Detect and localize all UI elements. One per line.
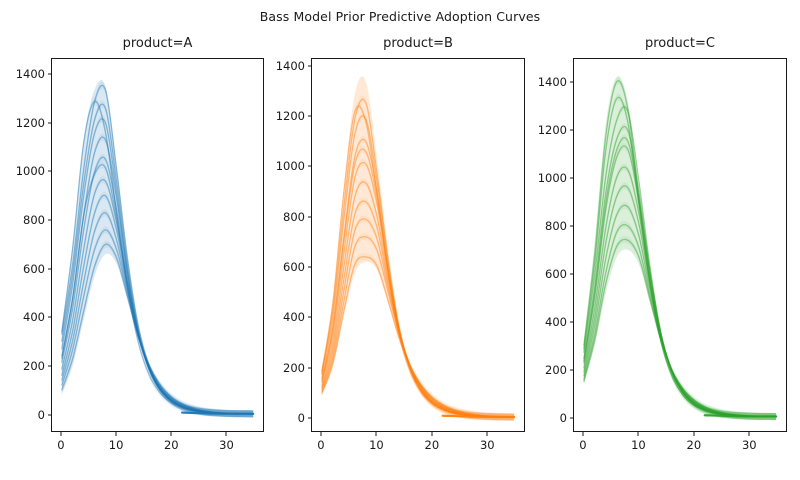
axes-frame-product-c — [573, 58, 787, 432]
x-tick-label: 0 — [317, 438, 324, 452]
adoption-curve-tail — [182, 413, 253, 414]
y-tick-mark — [48, 317, 52, 318]
y-tick-label: 0 — [560, 411, 567, 425]
y-tick-mark — [308, 367, 312, 368]
subplot-title-product-c: product=C — [573, 36, 787, 51]
plot-area-product-c — [574, 59, 786, 431]
y-tick-mark — [570, 321, 574, 322]
y-tick-label: 600 — [23, 262, 45, 276]
y-tick-mark — [570, 417, 574, 418]
axes-frame-product-a — [51, 58, 264, 432]
y-tick-label: 600 — [283, 260, 305, 274]
y-tick-label: 400 — [545, 315, 567, 329]
axes-frame-product-b — [311, 58, 525, 432]
y-tick-label: 1400 — [276, 59, 305, 73]
x-tick-mark — [171, 432, 172, 436]
x-tick-mark — [638, 432, 639, 436]
x-tick-mark — [376, 432, 377, 436]
x-tick-label: 10 — [369, 438, 384, 452]
y-tick-label: 400 — [283, 310, 305, 324]
y-tick-mark — [48, 171, 52, 172]
x-tick-mark — [226, 432, 227, 436]
y-tick-label: 1200 — [538, 123, 567, 137]
y-tick-mark — [308, 65, 312, 66]
y-tick-mark — [570, 225, 574, 226]
y-tick-label: 800 — [283, 210, 305, 224]
x-tick-label: 30 — [219, 438, 234, 452]
x-tick-label: 20 — [687, 438, 702, 452]
subplot-product-c: product=C 020040060080010001200140001020… — [573, 58, 787, 432]
y-tick-mark — [48, 73, 52, 74]
adoption-curve-tail — [705, 415, 776, 416]
x-tick-mark — [320, 432, 321, 436]
y-tick-label: 0 — [38, 408, 45, 422]
x-tick-label: 10 — [631, 438, 646, 452]
x-tick-mark — [582, 432, 583, 436]
subplot-product-b: product=B 020040060080010001200140001020… — [311, 58, 525, 432]
y-tick-label: 400 — [23, 310, 45, 324]
x-tick-label: 20 — [425, 438, 440, 452]
y-tick-label: 1200 — [16, 116, 45, 130]
y-tick-label: 1400 — [538, 75, 567, 89]
y-tick-mark — [570, 273, 574, 274]
y-tick-label: 200 — [283, 361, 305, 375]
y-tick-mark — [570, 81, 574, 82]
x-tick-mark — [60, 432, 61, 436]
y-tick-mark — [308, 166, 312, 167]
y-tick-label: 1000 — [538, 171, 567, 185]
x-tick-mark — [749, 432, 750, 436]
x-tick-label: 0 — [57, 438, 64, 452]
x-tick-mark — [487, 432, 488, 436]
y-tick-mark — [48, 220, 52, 221]
y-tick-mark — [48, 122, 52, 123]
plot-area-product-a — [52, 59, 263, 431]
y-tick-label: 1400 — [16, 67, 45, 81]
x-tick-label: 20 — [164, 438, 179, 452]
y-tick-mark — [570, 129, 574, 130]
y-tick-mark — [308, 216, 312, 217]
y-tick-label: 200 — [23, 359, 45, 373]
adoption-curve-tail — [443, 416, 514, 417]
y-tick-label: 800 — [545, 219, 567, 233]
subplot-title-product-b: product=B — [311, 36, 525, 51]
x-tick-label: 0 — [579, 438, 586, 452]
figure-suptitle: Bass Model Prior Predictive Adoption Cur… — [0, 9, 800, 24]
y-tick-label: 600 — [545, 267, 567, 281]
y-tick-label: 200 — [545, 363, 567, 377]
y-tick-mark — [48, 366, 52, 367]
y-tick-mark — [308, 317, 312, 318]
x-tick-label: 30 — [480, 438, 495, 452]
y-tick-mark — [308, 267, 312, 268]
x-tick-label: 10 — [109, 438, 124, 452]
y-tick-label: 0 — [298, 411, 305, 425]
subplot-product-a: product=A 020040060080010001200140001020… — [51, 58, 264, 432]
x-tick-mark — [431, 432, 432, 436]
x-tick-mark — [693, 432, 694, 436]
adoption-curve — [322, 257, 514, 417]
y-tick-mark — [308, 418, 312, 419]
y-tick-label: 800 — [23, 213, 45, 227]
y-tick-mark — [308, 115, 312, 116]
y-tick-mark — [48, 268, 52, 269]
y-tick-label: 1200 — [276, 109, 305, 123]
y-tick-mark — [570, 369, 574, 370]
matplotlib-figure: Bass Model Prior Predictive Adoption Cur… — [0, 0, 800, 480]
y-tick-mark — [570, 177, 574, 178]
x-tick-label: 30 — [742, 438, 757, 452]
subplot-title-product-a: product=A — [51, 36, 264, 51]
x-tick-mark — [116, 432, 117, 436]
y-tick-label: 1000 — [16, 164, 45, 178]
y-tick-mark — [48, 414, 52, 415]
plot-area-product-b — [312, 59, 524, 431]
y-tick-label: 1000 — [276, 159, 305, 173]
